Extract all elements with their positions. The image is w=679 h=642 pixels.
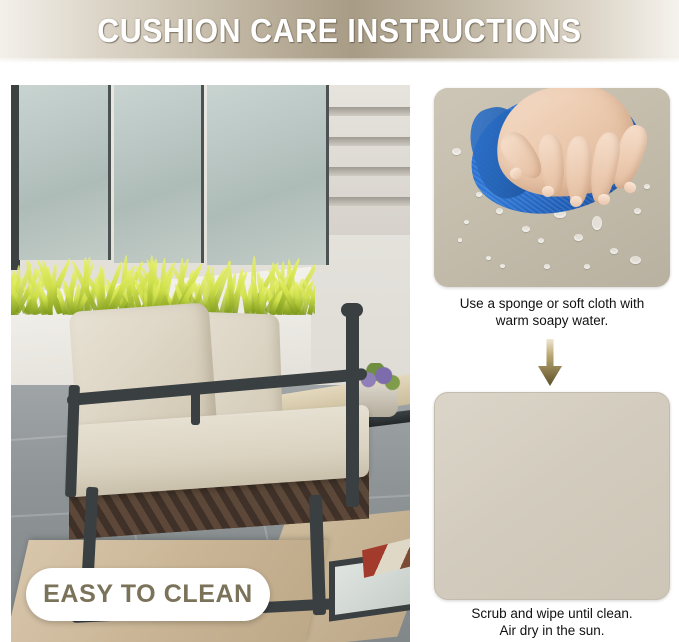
water-droplet xyxy=(610,248,618,254)
fingernail xyxy=(542,186,554,197)
down-arrow-icon xyxy=(537,339,563,387)
caption-line-2: warm soapy water. xyxy=(424,312,679,329)
water-droplet xyxy=(584,264,590,269)
water-droplet xyxy=(544,264,550,269)
water-droplet xyxy=(458,238,462,242)
glass-window-panel xyxy=(19,85,111,260)
chair-frame-arm-right xyxy=(346,307,359,507)
page-title: CUSHION CARE INSTRUCTIONS xyxy=(27,12,652,50)
water-droplet xyxy=(464,220,469,224)
step-dry-image xyxy=(434,392,670,600)
chair-frame-back-right xyxy=(341,303,363,317)
water-droplet xyxy=(574,234,583,241)
water-droplet xyxy=(644,184,650,189)
water-droplet xyxy=(630,256,641,264)
water-droplet xyxy=(522,226,530,232)
water-droplet xyxy=(496,208,503,214)
step-wipe-caption: Use a sponge or soft cloth with warm soa… xyxy=(424,295,679,329)
caption-line-2: Air dry in the sun. xyxy=(424,622,679,639)
step-dry-caption: Scrub and wipe until clean. Air dry in t… xyxy=(424,605,679,639)
water-droplet xyxy=(486,256,491,260)
chair-frame-support xyxy=(191,385,200,425)
fingernail xyxy=(598,194,610,205)
header-banner: CUSHION CARE INSTRUCTIONS xyxy=(0,0,679,63)
patio-chair-photo xyxy=(11,85,410,642)
step-wipe-image xyxy=(434,88,670,287)
staircase xyxy=(329,85,410,235)
ornamental-grass xyxy=(11,235,315,315)
water-droplet xyxy=(452,148,461,155)
water-droplet xyxy=(500,264,505,268)
easy-to-clean-badge: EASY TO CLEAN xyxy=(26,568,270,621)
fingernail xyxy=(570,196,582,207)
water-droplet xyxy=(592,216,602,230)
caption-line-1: Scrub and wipe until clean. xyxy=(424,605,679,622)
water-droplet xyxy=(634,208,641,214)
easy-to-clean-label: EASY TO CLEAN xyxy=(43,580,253,609)
water-droplet xyxy=(538,238,544,243)
caption-line-1: Use a sponge or soft cloth with xyxy=(424,295,679,312)
